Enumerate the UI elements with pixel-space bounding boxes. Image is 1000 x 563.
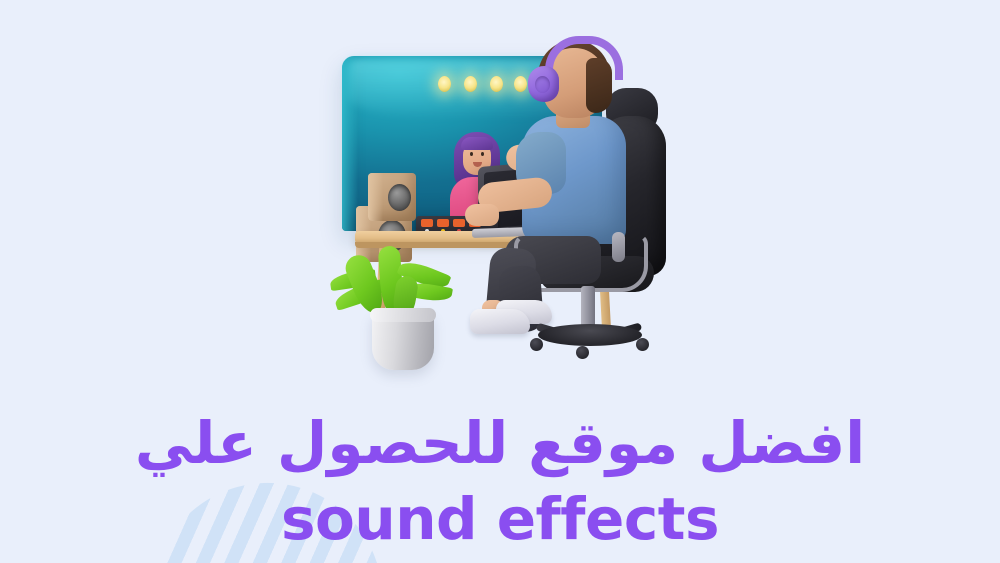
midi-pad [421, 219, 433, 227]
studio-light-icon [438, 76, 451, 92]
woman-fringe [461, 137, 493, 150]
chair-base [538, 324, 642, 346]
page-title: افضل موقع للحصول علي sound effects [0, 405, 1000, 558]
plant-pot-rim [370, 308, 436, 322]
speaker-side-panel [368, 173, 383, 221]
chair-caster [530, 338, 543, 351]
midi-pad [453, 219, 465, 227]
chair-caster [576, 346, 589, 359]
speaker-cone [388, 184, 411, 211]
studio-light-icon [464, 76, 477, 92]
chair-caster [636, 338, 649, 351]
woman-eye [470, 152, 473, 156]
poster-canvas: افضل موقع للحصول علي sound effects [0, 0, 1000, 563]
studio-light-icon [514, 76, 527, 92]
chair-height-lever [612, 232, 625, 262]
studio-speaker-top [368, 173, 416, 221]
headphone-earcup [528, 66, 559, 102]
studio-light-icon [490, 76, 503, 92]
midi-pad [437, 219, 449, 227]
hero-illustration [300, 28, 720, 368]
man-hand [465, 204, 499, 226]
man-shoe-front [470, 309, 530, 334]
woman-eye [481, 152, 484, 156]
screen-left-edge [342, 56, 358, 231]
